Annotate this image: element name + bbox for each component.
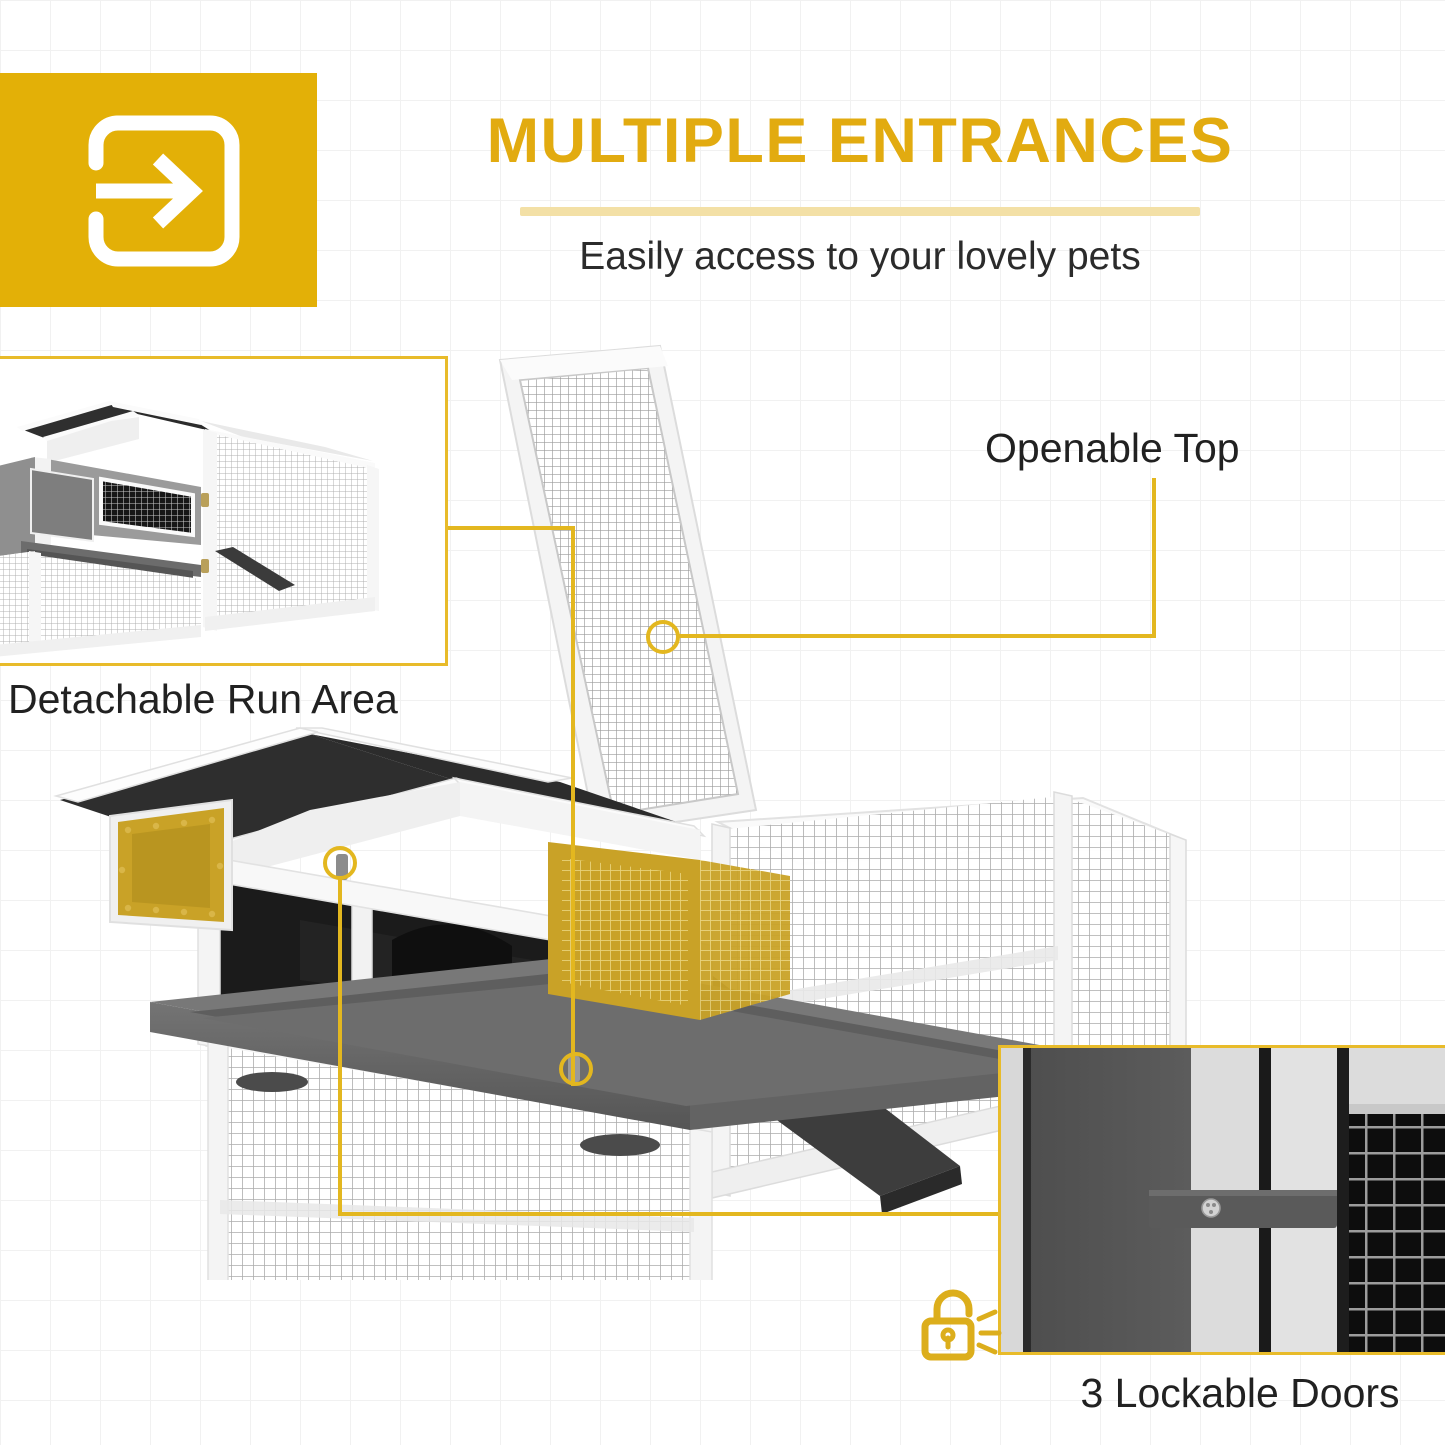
- door-latch-closeup: [1001, 1048, 1445, 1355]
- open-padlock-icon: [915, 1285, 1003, 1369]
- openable-top-lid: [500, 346, 756, 834]
- inset-detachable-run-area: [0, 356, 448, 666]
- hutch-with-run-illustration: [0, 359, 451, 669]
- front-door-lead-vertical: [338, 878, 342, 1216]
- run-lead-vertical: [571, 526, 575, 1086]
- side-door-highlighted: [110, 800, 232, 930]
- front-door-marker: [323, 846, 357, 880]
- inset-caption-detachable-run: Detachable Run Area: [8, 676, 478, 723]
- inset-lockable-doors: [998, 1045, 1445, 1355]
- callout-label-openable-top: Openable Top: [985, 425, 1240, 472]
- lower-latch-marker: [559, 1052, 593, 1086]
- openable-top-marker: [646, 620, 680, 654]
- inset-caption-lockable-doors: 3 Lockable Doors: [1030, 1370, 1445, 1417]
- page-subtitle: Easily access to your lovely pets: [400, 235, 1320, 279]
- enter-arrow-icon: [60, 111, 256, 271]
- openable-top-lead-vertical: [1152, 478, 1156, 638]
- openable-top-lead-horizontal: [678, 634, 1156, 638]
- header-icon-tile: [0, 73, 317, 307]
- front-door-lead-horizontal: [338, 1212, 1010, 1216]
- title-divider: [520, 207, 1200, 216]
- page-title: MULTIPLE ENTRANCES: [400, 105, 1320, 177]
- run-lead-horizontal: [447, 526, 575, 530]
